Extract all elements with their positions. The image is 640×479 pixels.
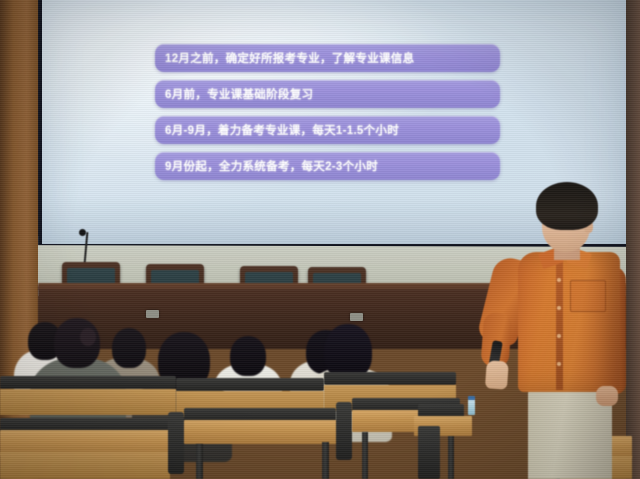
slide-bar-1-text: 12月之前，确定好所报考专业，了解专业课信息 <box>155 50 414 66</box>
slide-bar-3-text: 6月-9月，着力备考专业课，每天1-1.5个小时 <box>155 122 399 138</box>
desk-rail <box>176 378 324 391</box>
presenter-hand-raised <box>485 360 509 389</box>
presenter-hand-lowered <box>596 386 618 406</box>
shirt-button-1 <box>557 278 561 282</box>
desk-front <box>0 389 176 415</box>
shirt-button-3 <box>557 334 561 338</box>
slide-bar-1: 12月之前，确定好所报考专业，了解专业课信息 <box>155 44 500 72</box>
desk-surface <box>184 420 338 444</box>
slide-content: 12月之前，确定好所报考专业，了解专业课信息 6月前，专业课基础阶段复习 6月-… <box>155 44 515 188</box>
wall-socket-2 <box>350 313 363 321</box>
desk-divider-right <box>418 426 440 479</box>
lecture-hall-photo: 12月之前，确定好所报考专业，了解专业课信息 6月前，专业课基础阶段复习 6月-… <box>0 0 640 479</box>
desk-leg <box>448 430 454 479</box>
slide-bar-4: 9月份起，全力系统备考，每天2-3个小时 <box>155 152 500 180</box>
shirt-button-4 <box>557 362 561 366</box>
presenter-hair <box>536 182 598 230</box>
slide-bar-2: 6月前，专业课基础阶段复习 <box>155 80 500 108</box>
desk-leg <box>322 442 329 479</box>
desk-front <box>0 452 170 479</box>
desk-rail <box>324 372 456 385</box>
wall-socket-1 <box>146 310 159 318</box>
student-5-head <box>230 336 266 376</box>
desk-divider <box>336 402 352 460</box>
podium-microphone-head <box>79 229 86 236</box>
presenter-shirt <box>518 252 620 392</box>
slide-bar-2-text: 6月前，专业课基础阶段复习 <box>155 86 313 102</box>
desk-divider <box>168 412 184 474</box>
student-3-head <box>112 328 146 368</box>
slide-bar-4-text: 9月份起，全力系统备考，每天2-3个小时 <box>155 158 378 174</box>
desk-leg <box>196 444 203 479</box>
presenter-forearm <box>480 312 512 368</box>
presenter <box>470 182 630 479</box>
slide-bar-3: 6月-9月，着力备考专业课，每天1-1.5个小时 <box>155 116 500 144</box>
presenter-shirt-pocket <box>570 280 606 312</box>
desk-rail <box>0 376 176 389</box>
student-2-hair-bun <box>80 328 96 346</box>
shirt-button-2 <box>557 306 561 310</box>
desk-leg <box>362 432 368 479</box>
